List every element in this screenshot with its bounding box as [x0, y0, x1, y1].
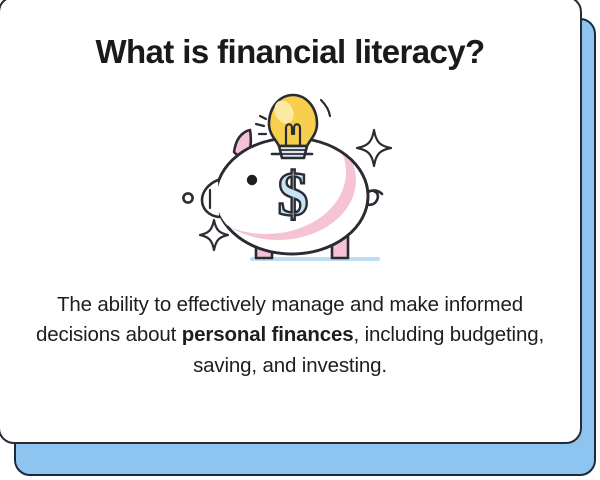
- page-title: What is financial literacy?: [95, 34, 484, 70]
- dollar-sign-icon: $: [278, 161, 309, 229]
- definition-text: The ability to effectively manage and ma…: [30, 290, 550, 380]
- sparkle-icon: [200, 220, 228, 250]
- piggy-bank-illustration: $: [160, 76, 420, 276]
- pig-eye-icon: [247, 175, 257, 185]
- definition-text-emphasis: personal finances: [182, 323, 354, 346]
- sparkle-icon: [357, 130, 391, 166]
- definition-card: What is financial literacy?: [0, 0, 582, 444]
- svg-text:$: $: [278, 161, 309, 229]
- slide-canvas: What is financial literacy?: [0, 0, 600, 480]
- small-ring-icon: [183, 194, 192, 203]
